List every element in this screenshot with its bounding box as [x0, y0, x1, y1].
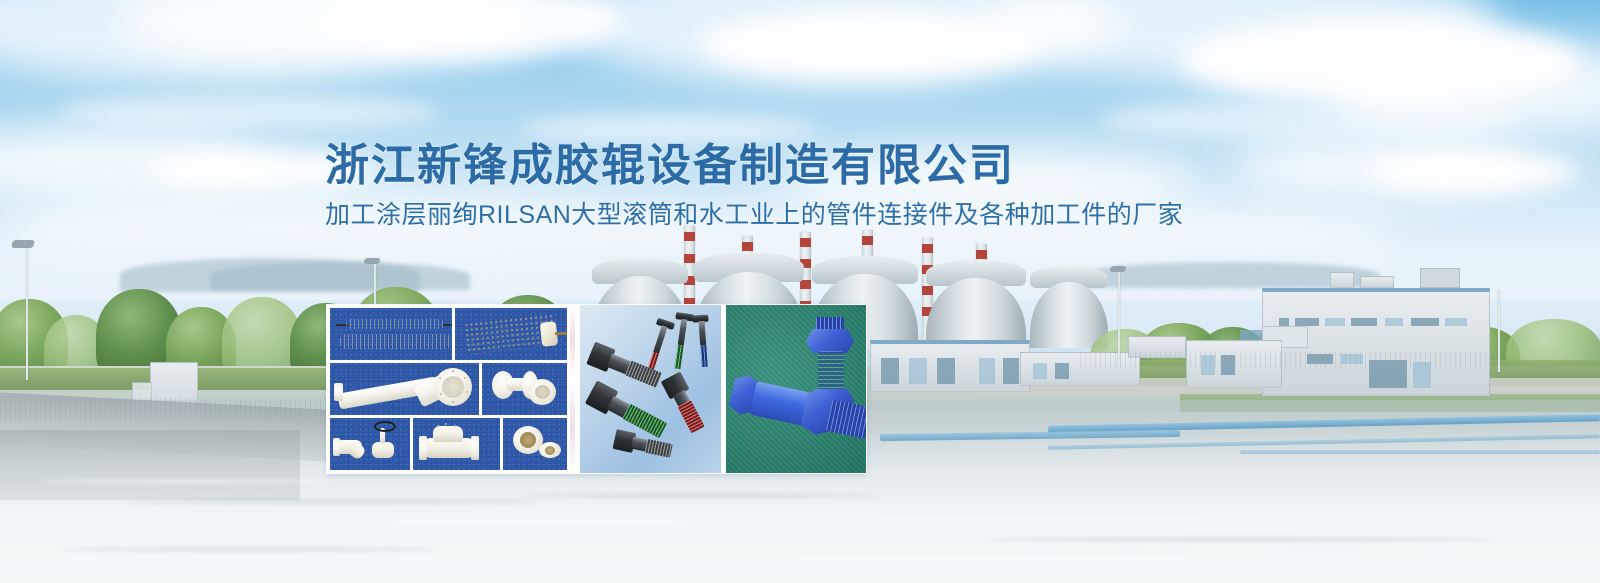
collage-panel-coated-bolts	[575, 305, 721, 473]
collage-cell-flanged-elbow-pipe	[330, 363, 479, 415]
hero-banner: 浙江新锋成胶辊设备制造有限公司 加工涂层丽绚RILSAN大型滚筒和水工业上的管件…	[0, 0, 1600, 583]
collage-cell-flanged-spools	[482, 363, 567, 415]
page-title: 浙江新锋成胶辊设备制造有限公司	[325, 129, 1015, 193]
collage-cell-roller-pair	[330, 308, 452, 360]
collage-cell-check-valve	[413, 418, 500, 470]
product-collage	[327, 305, 866, 473]
page-subtitle: 加工涂层丽绚RILSAN大型滚筒和水工业上的管件连接件及各种加工件的厂家	[325, 195, 1183, 231]
collage-panel-blue-bolts	[721, 305, 866, 473]
collage-cell-strainer-and-gate-valve	[330, 418, 410, 470]
collage-panel-coated-parts	[327, 305, 570, 473]
collage-cell-perforated-core	[455, 308, 568, 360]
collage-cell-flange-gaskets	[503, 418, 567, 470]
